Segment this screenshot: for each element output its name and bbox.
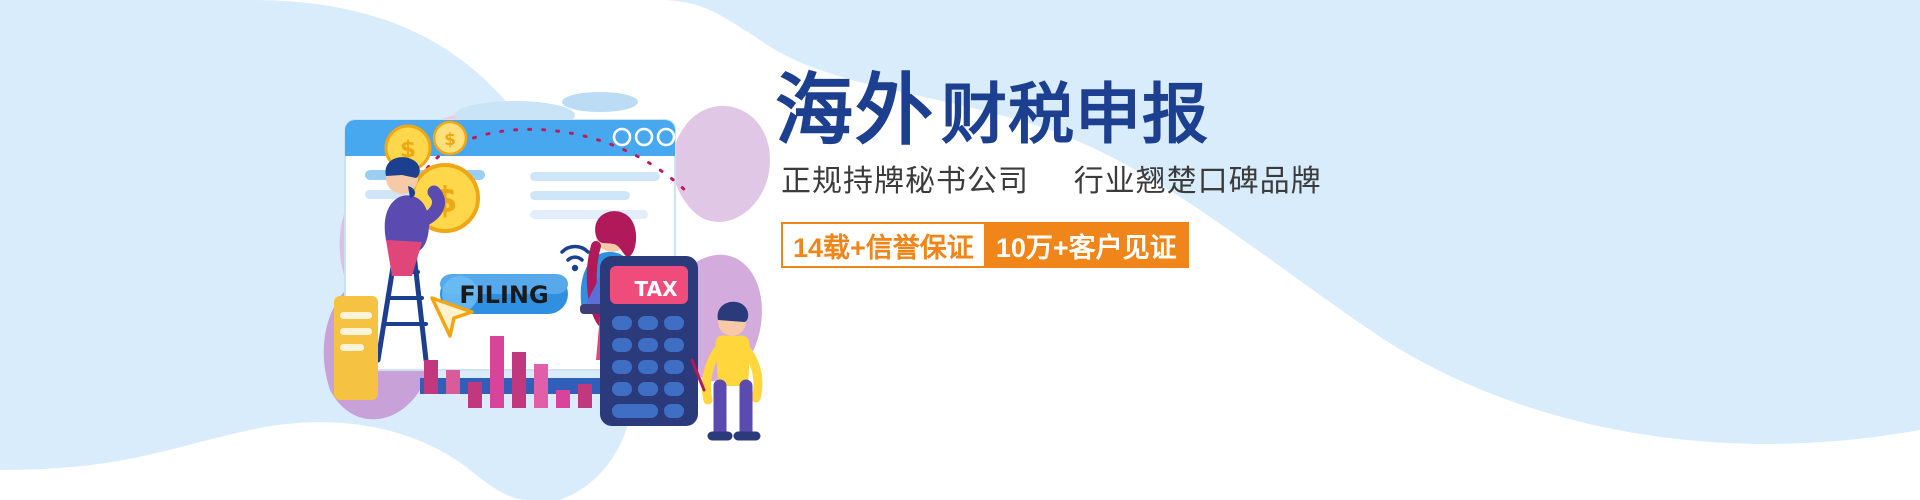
subtitle-left: 正规持牌秘书公司 <box>781 165 1029 198</box>
badge-group: 14载+信誉保证 10万+客户见证 <box>781 222 1475 268</box>
status-badge-experience: 14载+信誉保证 <box>781 222 986 268</box>
headline-primary: 海外 <box>775 72 935 150</box>
subtitle-right: 行业翘楚口碑品牌 <box>1074 165 1322 198</box>
tax-filing-illustration: $ $ $ FILING <box>300 60 780 460</box>
svg-text:$: $ <box>444 130 456 150</box>
status-badge-customers: 10万+客户见证 <box>986 222 1189 268</box>
subtitle: 正规持牌秘书公司 行业翘楚口碑品牌 <box>781 156 1475 200</box>
banner-copy: 海外 财税申报 正规持牌秘书公司 行业翘楚口碑品牌 14载+信誉保证 10万+客… <box>775 72 1475 268</box>
page-title: 海外 财税申报 <box>775 72 1475 150</box>
promo-banner: $ $ $ FILING <box>0 0 1920 500</box>
filing-button-label: FILING <box>459 281 548 309</box>
headline-secondary: 财税申报 <box>941 82 1209 150</box>
calculator-tax-label: TAX <box>635 277 679 301</box>
